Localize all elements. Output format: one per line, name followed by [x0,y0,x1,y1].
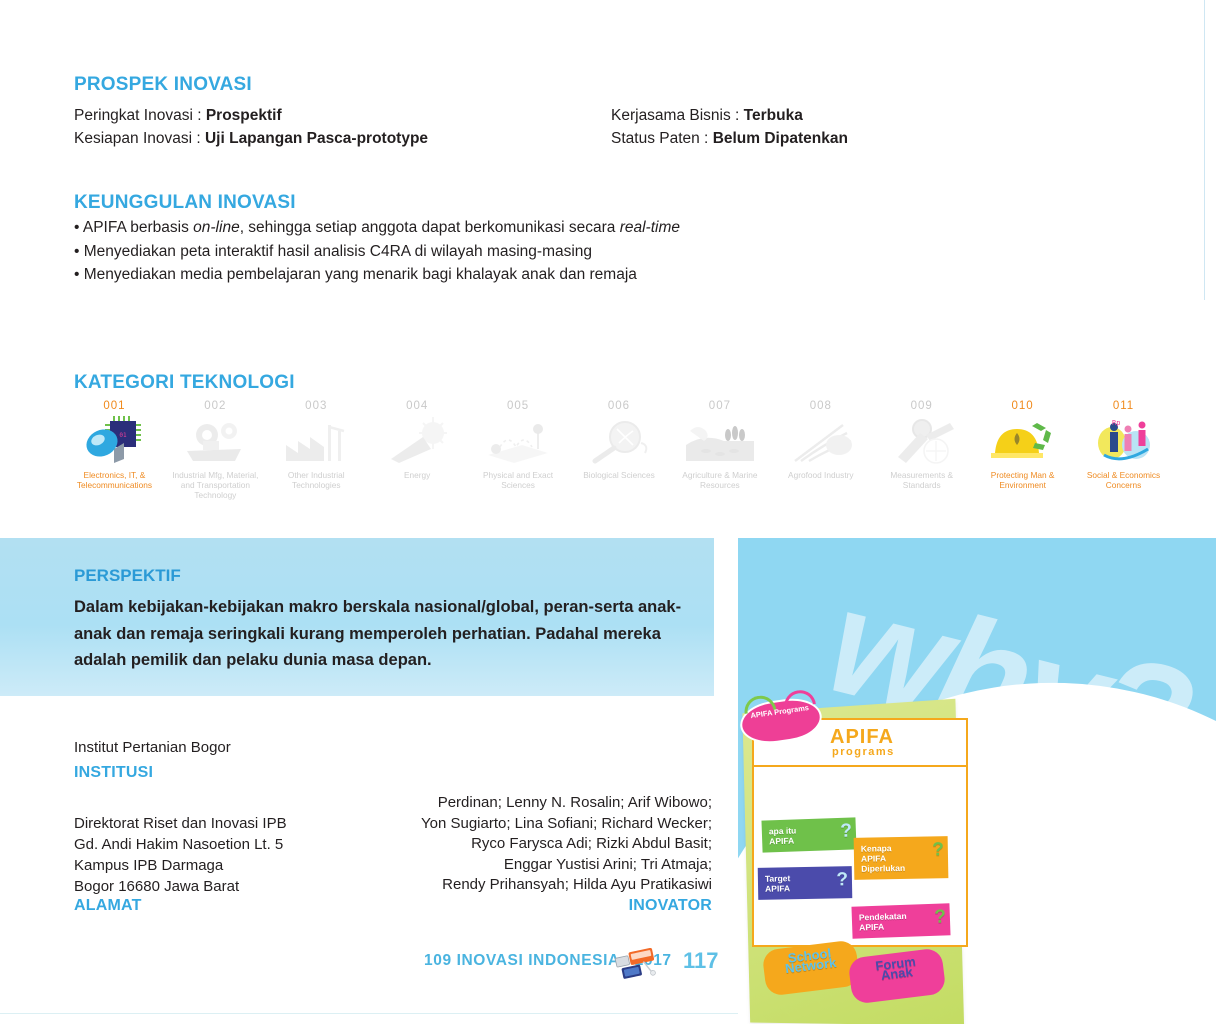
top-right-swoosh-decoration [724,0,1216,300]
apifa-tag-label: apa ituAPIFA [769,825,797,846]
apifa-tag[interactable]: KenapaAPIFADiperlukan? [854,836,949,880]
kategori-label: Physical and Exact Sciences [468,470,569,490]
question-mark-icon: ? [836,870,848,889]
alamat-text: Direktorat Riset dan Inovasi IPBGd. Andi… [74,813,287,897]
kategori-number: 011 [1073,400,1174,413]
kategori-number: 005 [468,400,569,413]
prospek-row-peringkat: Peringkat Inovasi : Prospektif [74,104,428,127]
kategori-item-002[interactable]: 002 Industrial Mfg, Material, and Transp… [165,400,266,500]
prospek-label-paten: Status Paten : [611,130,708,147]
kategori-item-004[interactable]: 004 Energy [367,400,468,480]
kategori-item-006[interactable]: 006 Biological Sciences [569,400,670,480]
question-mark-icon: ? [840,822,852,841]
kategori-label: Other Industrial Technologies [266,470,367,490]
kategori-number: 007 [669,400,770,413]
kategori-label: Electronics, IT, & Telecommunications [64,470,165,490]
kategori-item-008[interactable]: 008 Agrofood Industry [770,400,871,480]
keunggulan-list: • APIFA berbasis on-line, sehingga setia… [74,216,680,287]
illustration-panel: why? APIFA Programs APIFA programs apa i… [738,538,1216,1024]
text-line: Direktorat Riset dan Inovasi IPB [74,813,287,834]
apifa-card-subtitle: programs [832,746,895,758]
kategori-label: Agrofood Industry [770,470,871,480]
apifa-tag-label: KenapaAPIFADiperlukan [861,843,905,874]
prospek-row-kesiapan: Kesiapan Inovasi : Uji Lapangan Pasca-pr… [74,127,428,150]
kategori-label: Biological Sciences [569,470,670,480]
kategori-item-010[interactable]: 010 Protecting Man & Environment [972,400,1073,490]
prospek-heading: PROSPEK INOVASI [74,74,252,96]
kategori-heading: KATEGORI TEKNOLOGI [74,372,295,394]
question-mark-icon: ? [934,907,946,926]
text-line: Gd. Andi Hakim Nasoetion Lt. 5 [74,834,287,855]
inovator-names: Perdinan; Lenny N. Rosalin; Arif Wibowo;… [360,793,712,896]
device-illustration-icon [615,948,659,982]
kategori-label: Measurements & Standards [871,470,972,490]
footer-rule [0,1013,760,1014]
magnifier-cell-icon [583,415,655,467]
kategori-item-005[interactable]: 005 Physical and Exact Sciences [468,400,569,490]
institusi-label: INSTITUSI [74,764,153,782]
perspektif-heading: PERSPEKTIF [74,566,181,586]
keunggulan-item: • Menyediakan peta interaktif hasil anal… [74,240,680,264]
apifa-tag-label: SchoolNetwork [784,946,837,977]
kategori-item-003[interactable]: 003 Other Industrial Technologies [266,400,367,490]
kategori-item-009[interactable]: 009 Measurements & Standards [871,400,972,490]
kategori-item-001[interactable]: 001 01 Electronics, IT, & Telecommunicat… [64,400,165,490]
farm-marine-icon [684,415,756,467]
text-line: Kampus IPB Darmaga [74,855,287,876]
svg-text:Rp: Rp [1112,419,1120,427]
keunggulan-item: • Menyediakan media pembelajaran yang me… [74,263,680,287]
keunggulan-item: • APIFA berbasis on-line, sehingga setia… [74,216,680,240]
text-line: Perdinan; Lenny N. Rosalin; Arif Wibowo; [360,793,712,814]
wheat-icon [785,415,857,467]
apifa-card-header: APIFA Programs APIFA programs [754,720,966,767]
gears-ship-icon [179,415,251,467]
caliper-icon [886,415,958,467]
prospek-label-peringkat: Peringkat Inovasi : [74,107,202,124]
text-line: Ryco Farysca Adi; Rizki Abdul Basit; [360,834,712,855]
apifa-tag-group: apa ituAPIFA?KenapaAPIFADiperlukan?Targe… [754,767,966,783]
physics-icon [482,415,554,467]
inovator-label: INOVATOR [360,897,712,915]
page-number: 117 [683,948,719,974]
apifa-tag-label: TargetAPIFA [765,873,791,893]
satellite-chip-icon: 01 [78,415,150,467]
text-line: Yon Sugiarto; Lina Sofiani; Richard Weck… [360,814,712,835]
apifa-tag[interactable]: TargetAPIFA? [758,866,853,900]
kategori-number: 003 [266,400,367,413]
kategori-item-007[interactable]: 007 Agriculture & Marine Resources [669,400,770,490]
apifa-rainbow-badge-icon: APIFA Programs [740,697,823,745]
kategori-label: Energy [367,470,468,480]
svg-text:01: 01 [120,432,128,439]
prospek-value-paten: Belum Dipatenkan [713,130,848,147]
apifa-tag-label: ForumAnak [874,954,916,983]
perspektif-body: Dalam kebijakan-kebijakan makro berskala… [74,594,694,674]
prospek-row-kerjasama: Kerjasama Bisnis : Terbuka [611,104,848,127]
prospek-value-kerjasama: Terbuka [744,107,803,124]
factory-icon [280,415,352,467]
people-balance-icon: Rp [1088,415,1160,467]
kategori-icon-row: 001 01 Electronics, IT, & Telecommunicat… [64,400,1174,510]
prospek-row-paten: Status Paten : Belum Dipatenkan [611,127,848,150]
sun-energy-icon [381,415,453,467]
kategori-number: 010 [972,400,1073,413]
kategori-label: Agriculture & Marine Resources [669,470,770,490]
prospek-left-column: Peringkat Inovasi : Prospektif Kesiapan … [74,104,428,150]
apifa-tag[interactable]: PendekatanAPIFA? [851,903,950,938]
prospek-label-kerjasama: Kerjasama Bisnis : [611,107,739,124]
text-line: Rendy Prihansyah; Hilda Ayu Pratikasiwi [360,875,712,896]
kategori-label: Social & Economics Concerns [1073,470,1174,490]
text-line: Enggar Yustisi Arini; Tri Atmaja; [360,855,712,876]
prospek-value-kesiapan: Uji Lapangan Pasca-prototype [205,130,428,147]
apifa-tag-label: PendekatanAPIFA [859,911,907,933]
institusi-name: Institut Pertanian Bogor [74,739,231,756]
text-line: Bogor 16680 Jawa Barat [74,876,287,897]
helmet-recycle-icon [987,415,1059,467]
prospek-value-peringkat: Prospektif [206,107,282,124]
right-edge-rule [1204,0,1205,300]
kategori-number: 004 [367,400,468,413]
kategori-number: 001 [64,400,165,413]
apifa-programs-card: APIFA Programs APIFA programs apa ituAPI… [752,718,968,947]
alamat-label: ALAMAT [74,897,142,915]
kategori-label: Protecting Man & Environment [972,470,1073,490]
question-mark-icon: ? [932,840,944,859]
kategori-label: Industrial Mfg, Material, and Transporta… [165,470,266,500]
apifa-tag[interactable]: apa ituAPIFA? [761,817,856,852]
kategori-number: 008 [770,400,871,413]
kategori-number: 006 [569,400,670,413]
kategori-number: 002 [165,400,266,413]
prospek-right-column: Kerjasama Bisnis : Terbuka Status Paten … [611,104,848,150]
kategori-item-011[interactable]: 011 Rp Social & Economics Concerns [1073,400,1174,490]
kategori-number: 009 [871,400,972,413]
prospek-label-kesiapan: Kesiapan Inovasi : [74,130,205,147]
keunggulan-heading: KEUNGGULAN INOVASI [74,192,296,214]
